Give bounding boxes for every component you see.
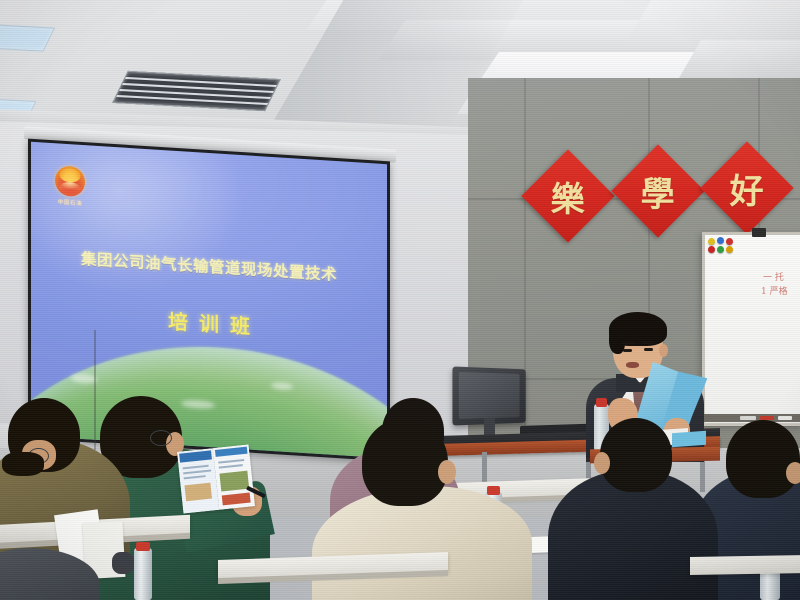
presenter-brow (642, 341, 655, 344)
presenter-eye (644, 348, 653, 351)
glasses-icon (150, 430, 172, 446)
lcd-monitor[interactable] (452, 366, 525, 425)
attendee-cream-jacket-head (362, 418, 448, 506)
magnet-icon[interactable] (717, 246, 724, 253)
presenter-mouth (626, 362, 639, 368)
whiteboard-note-line-2: 1 严格 (761, 287, 788, 298)
monitor-rear-panel (459, 372, 520, 419)
banner-char: 好 (730, 164, 764, 213)
whiteboard-note-line-1: 一 托 (763, 273, 784, 284)
whiteboard[interactable]: 一 托 1 严格 (702, 232, 800, 426)
ceiling-coffer (679, 40, 800, 78)
whiteboard-marker-tray (700, 414, 800, 422)
slide-surface: 中国石油 集团公司油气长输管道现场处置技术 培训班 (31, 142, 387, 458)
screen-cord (94, 330, 96, 450)
petrochina-sun-icon (55, 165, 85, 197)
whiteboard-clip[interactable] (752, 228, 766, 237)
attendee-hand (112, 552, 134, 574)
marker-icon[interactable] (740, 416, 756, 420)
magnet-icon[interactable] (726, 246, 733, 253)
front-right-table (690, 555, 800, 575)
training-room-photo: 樂 學 好 一 托 1 严格 中国 (0, 0, 800, 600)
globe-atmosphere (31, 331, 387, 458)
magnet-icon[interactable] (726, 238, 733, 245)
petrochina-logo: 中国石油 (53, 165, 87, 207)
attendee-dark-suit-left-head (600, 418, 672, 492)
presenter-brow (622, 342, 635, 345)
banner-char: 樂 (551, 172, 585, 221)
water-bottle[interactable] (760, 570, 780, 600)
attendee-hair (2, 452, 44, 476)
recessed-grille-light-icon (0, 24, 55, 51)
attendee-ear (438, 460, 456, 484)
bottle-cap (487, 486, 500, 495)
marker-icon[interactable] (778, 416, 792, 420)
magnet-icon[interactable] (708, 238, 715, 245)
attendee-navy-suit-right-head (726, 420, 800, 498)
projection-screen: 中国石油 集团公司油气长输管道现场处置技术 培训班 (28, 139, 390, 462)
attendee-ear (786, 462, 800, 484)
presenter-eye (623, 349, 632, 352)
bottle-cap (596, 398, 607, 407)
magnet-icon[interactable] (708, 246, 715, 253)
attendee-ear (594, 452, 610, 474)
slide-subtitle: 培训班 (31, 297, 387, 348)
presenter-ear (659, 344, 668, 357)
banner-char: 學 (641, 167, 675, 216)
brochure[interactable] (177, 444, 255, 513)
presenter-blue-folder[interactable] (672, 431, 706, 447)
recessed-grille-light-icon (112, 71, 281, 111)
water-bottle[interactable] (134, 548, 152, 600)
bottle-cap (136, 542, 150, 551)
magnet-icon[interactable] (717, 237, 724, 244)
